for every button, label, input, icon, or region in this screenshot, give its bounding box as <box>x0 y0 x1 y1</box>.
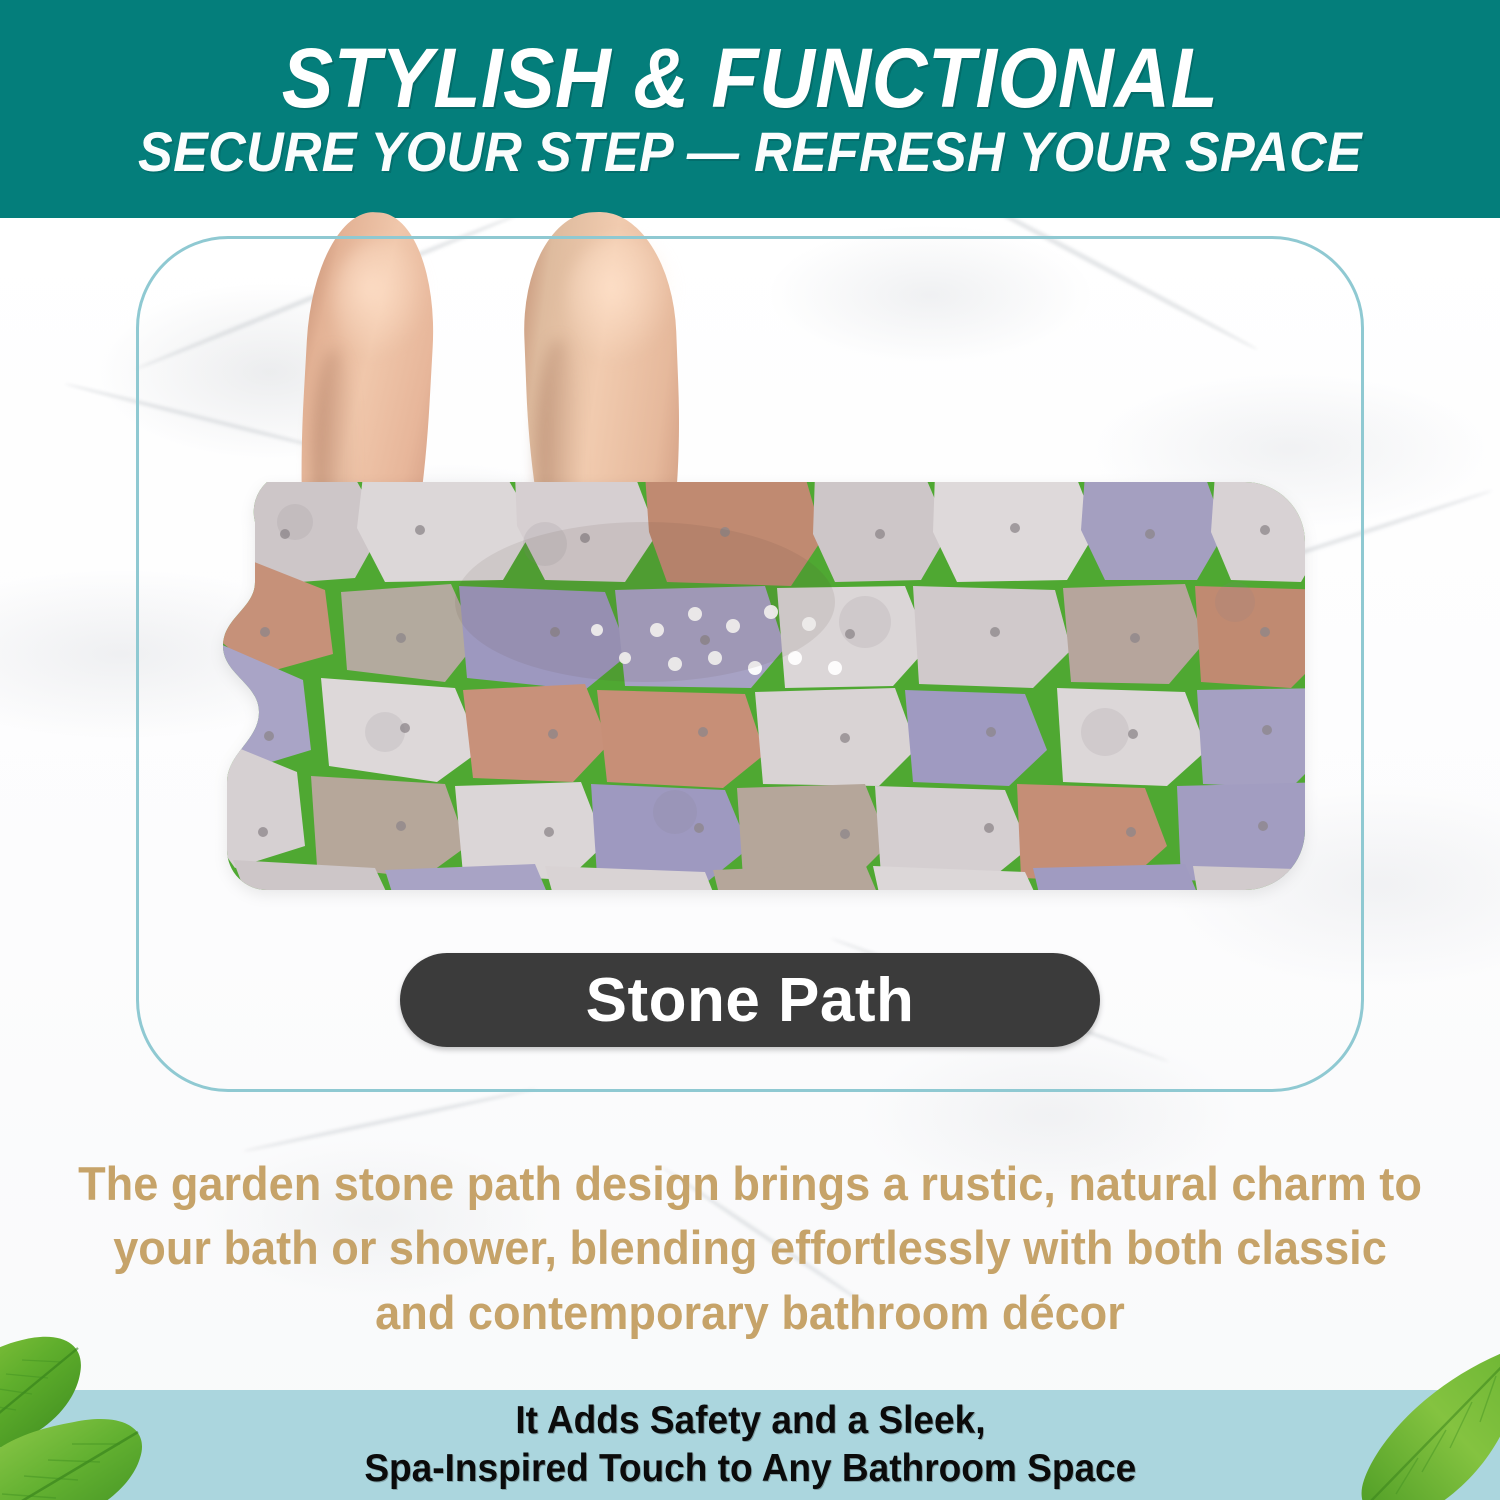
top-banner: STYLISH & FUNCTIONAL SECURE YOUR STEP — … <box>0 0 1500 218</box>
bottom-banner: It Adds Safety and a Sleek, Spa-Inspired… <box>0 1390 1500 1500</box>
product-name-badge: Stone Path <box>400 953 1100 1047</box>
bath-mat-illustration <box>205 482 1305 890</box>
product-infographic: STYLISH & FUNCTIONAL SECURE YOUR STEP — … <box>0 0 1500 1500</box>
banner-subtitle: SECURE YOUR STEP — REFRESH YOUR SPACE <box>138 124 1362 180</box>
bath-mat <box>205 482 1305 890</box>
product-name-label: Stone Path <box>586 965 915 1036</box>
footer-line-1: It Adds Safety and a Sleek, <box>515 1397 985 1445</box>
product-description: The garden stone path design brings a ru… <box>76 1152 1424 1345</box>
left-knee-highlight <box>332 240 428 360</box>
footer-line-2: Spa-Inspired Touch to Any Bathroom Space <box>364 1445 1136 1493</box>
right-knee-highlight <box>566 236 676 364</box>
banner-title: STYLISH & FUNCTIONAL <box>282 38 1219 119</box>
